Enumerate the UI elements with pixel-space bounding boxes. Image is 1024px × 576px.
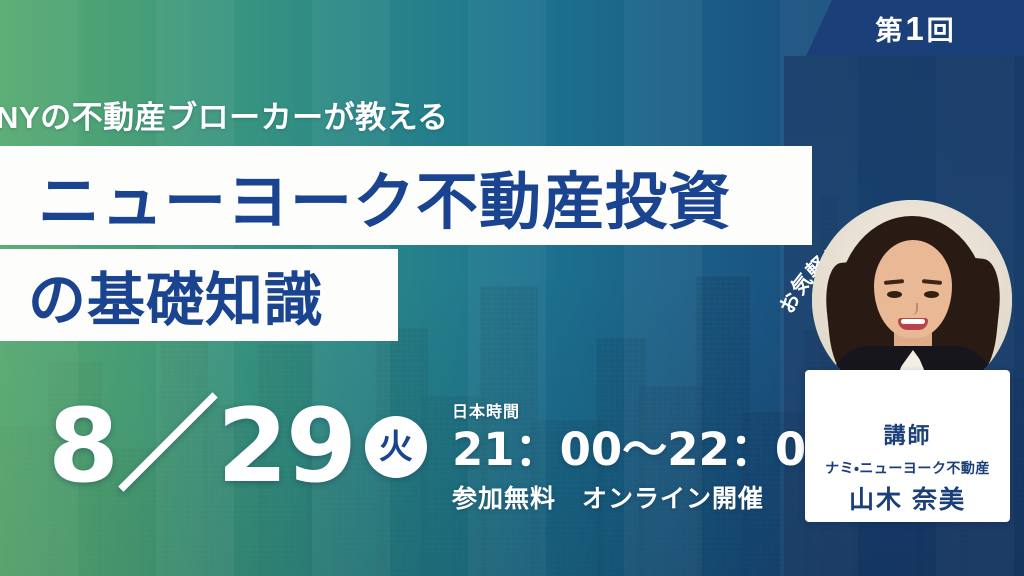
speaker-role: 講師 (805, 418, 1010, 450)
title-band-1: ニューヨーク不動産投資 (0, 146, 812, 245)
title-band-2: の基礎知識 (0, 249, 398, 341)
subtitle: NYの不動産ブローカーが教える (0, 92, 449, 137)
time-range: 21：00〜22：00 (452, 425, 838, 475)
title-line-2: の基礎知識 (0, 253, 323, 337)
badge-prefix: 第 (875, 16, 903, 46)
title-line-1: ニューヨーク不動産投資 (0, 151, 731, 241)
event-date: 8／29 火 (48, 396, 427, 498)
weekday-badge: 火 (365, 416, 427, 478)
event-notes: 参加無料 オンライン開催 (452, 479, 838, 515)
session-number-badge: 第1回 (806, 0, 1024, 56)
timezone-label: 日本時間 (452, 398, 838, 422)
speaker-info-card: 講師 ナミ・ニューヨーク不動産 山木 奈美 (805, 370, 1010, 522)
speaker-organization: ナミ・ニューヨーク不動産 (805, 458, 1010, 478)
badge-number: 1 (903, 10, 926, 47)
webinar-poster: 第1回 NYの不動産ブローカーが教える ニューヨーク不動産投資 の基礎知識 8／… (0, 0, 1024, 576)
weekday-label: 火 (379, 430, 413, 464)
event-time-block: 日本時間 21：00〜22：00 参加無料 オンライン開催 (452, 398, 838, 515)
date-number: 8／29 (48, 396, 355, 498)
badge-suffix: 回 (927, 16, 955, 46)
speaker-name: 山木 奈美 (805, 480, 1010, 516)
